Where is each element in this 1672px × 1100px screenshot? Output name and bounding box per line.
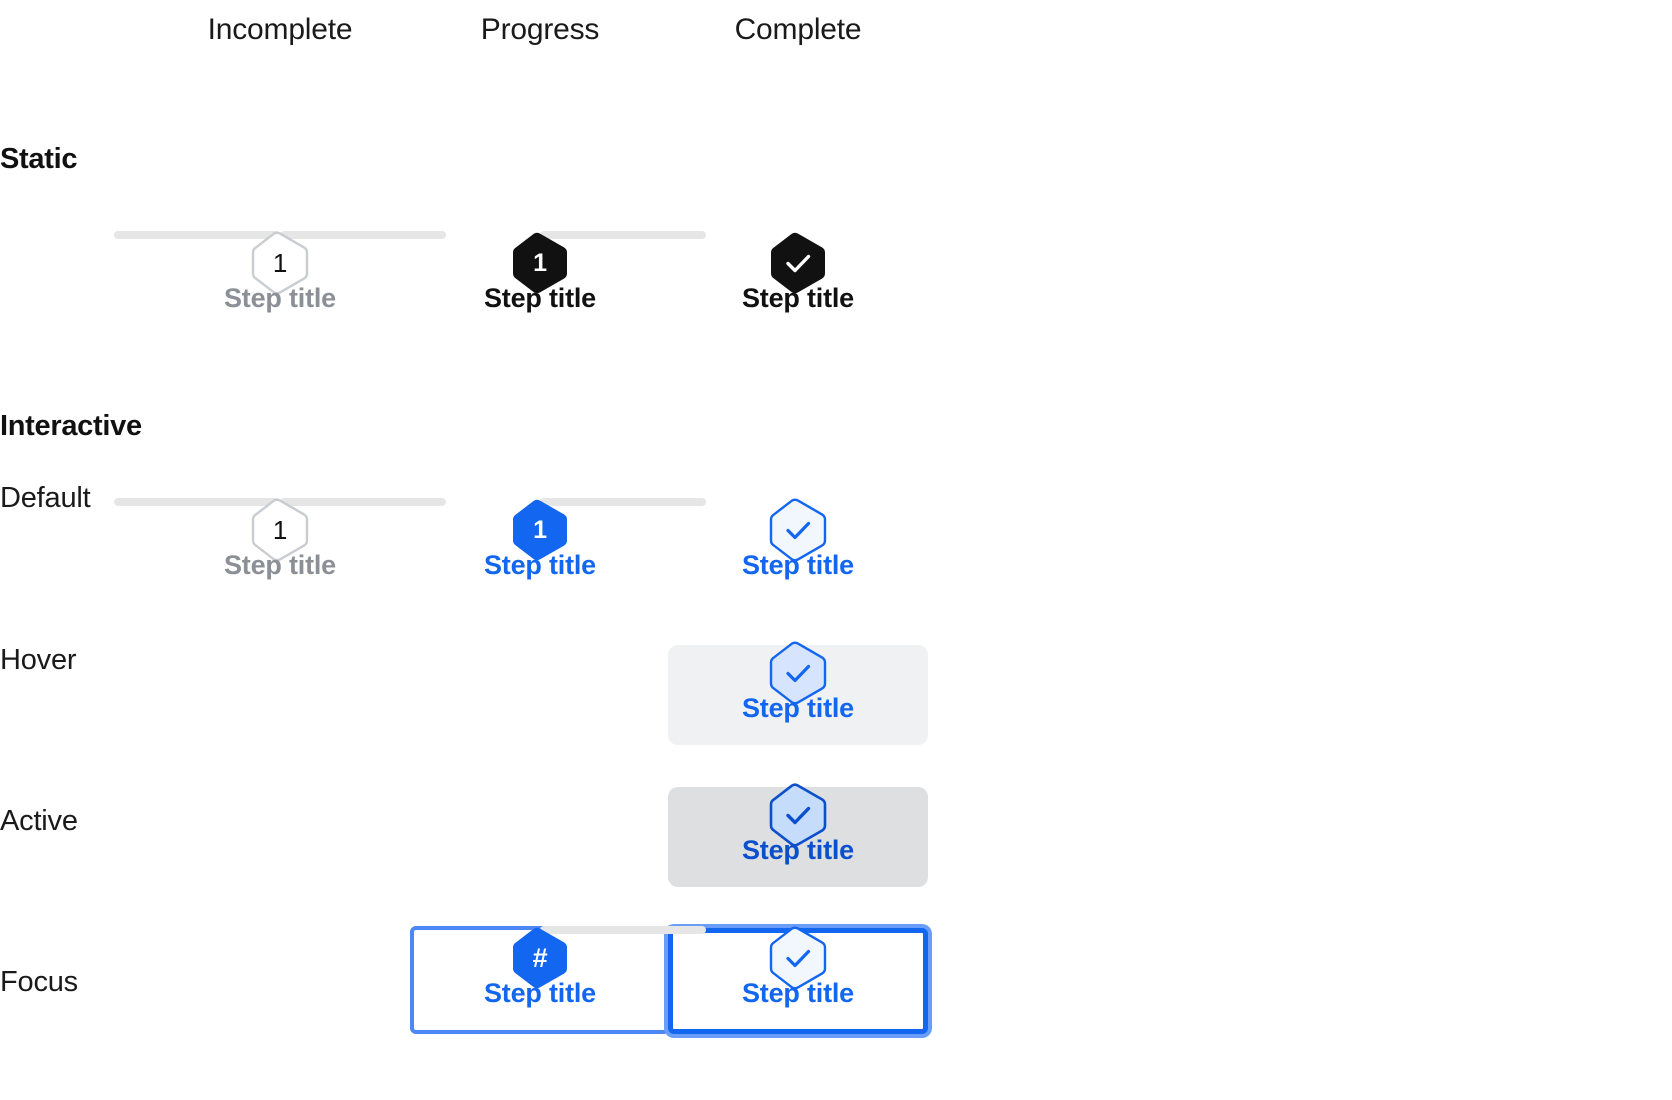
step-focus-complete[interactable]: Step title	[632, 900, 964, 1030]
row-label-focus: Focus	[0, 966, 78, 999]
marker-hash: #	[533, 945, 548, 972]
marker-number: 1	[533, 251, 547, 276]
step-active-complete[interactable]: Step title	[632, 757, 964, 887]
step-title: Step title	[632, 978, 964, 1009]
step-title: Step title	[632, 550, 964, 581]
row-label-hover: Hover	[0, 644, 76, 677]
row-label-default: Default	[0, 482, 91, 515]
progress-track	[632, 498, 964, 510]
row-label-active: Active	[0, 805, 78, 838]
marker-number: 1	[273, 250, 287, 276]
stepper-states-sheet: Incomplete Progress Complete Static Inte…	[0, 0, 1672, 1100]
progress-track	[632, 926, 964, 938]
step-title: Step title	[632, 283, 964, 314]
step-static-complete: Step title	[632, 205, 964, 335]
progress-track	[632, 231, 964, 243]
marker-number: 1	[273, 517, 287, 543]
section-label-interactive: Interactive	[0, 410, 142, 443]
section-label-static: Static	[0, 143, 77, 176]
step-title: Step title	[632, 693, 964, 724]
step-hover-complete[interactable]: Step title	[632, 615, 964, 745]
column-header-progress: Progress	[410, 13, 670, 47]
column-header-incomplete: Incomplete	[150, 13, 410, 47]
step-title: Step title	[632, 835, 964, 866]
progress-track	[632, 783, 964, 795]
step-default-complete[interactable]: Step title	[632, 472, 964, 602]
column-header-complete: Complete	[668, 13, 928, 47]
marker-number: 1	[533, 518, 547, 543]
progress-track	[632, 641, 964, 653]
